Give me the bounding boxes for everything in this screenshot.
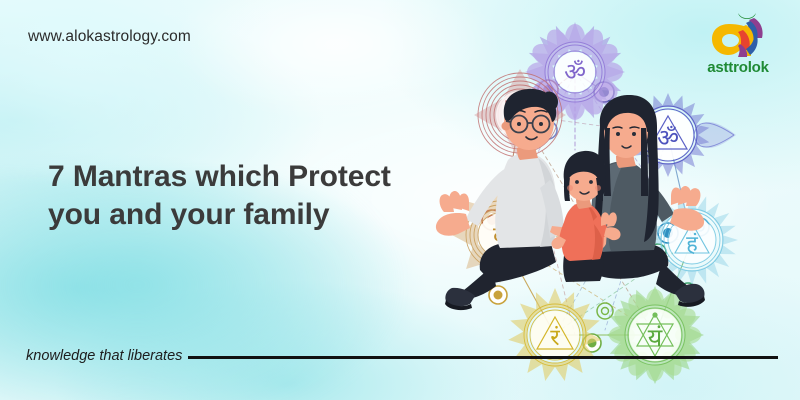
brand-logo[interactable]: asttrolok xyxy=(692,10,784,86)
logo-wordmark: asttrolok xyxy=(692,59,784,76)
manipura-solar-plexus-chakra: रं xyxy=(507,288,602,383)
throat-chakra-symbol: हं xyxy=(686,232,698,257)
headline-line-1: 7 Mantras which Protect xyxy=(48,160,391,193)
crown-chakra-symbol: ॐ xyxy=(564,58,586,86)
tagline-group: knowledge that liberates xyxy=(26,345,780,367)
promo-banner: ॐ लं xyxy=(0,0,800,400)
site-url[interactable]: www.alokastrology.com xyxy=(28,28,191,46)
third-eye-chakra-symbol: ॐ xyxy=(657,124,679,152)
headline-line-2: you and your family xyxy=(48,196,448,234)
page-title: 7 Mantras which Protect you and your fam… xyxy=(48,158,448,235)
tagline: knowledge that liberates xyxy=(26,348,188,364)
asttrolok-logo-icon xyxy=(707,10,769,62)
tagline-divider xyxy=(188,356,778,359)
